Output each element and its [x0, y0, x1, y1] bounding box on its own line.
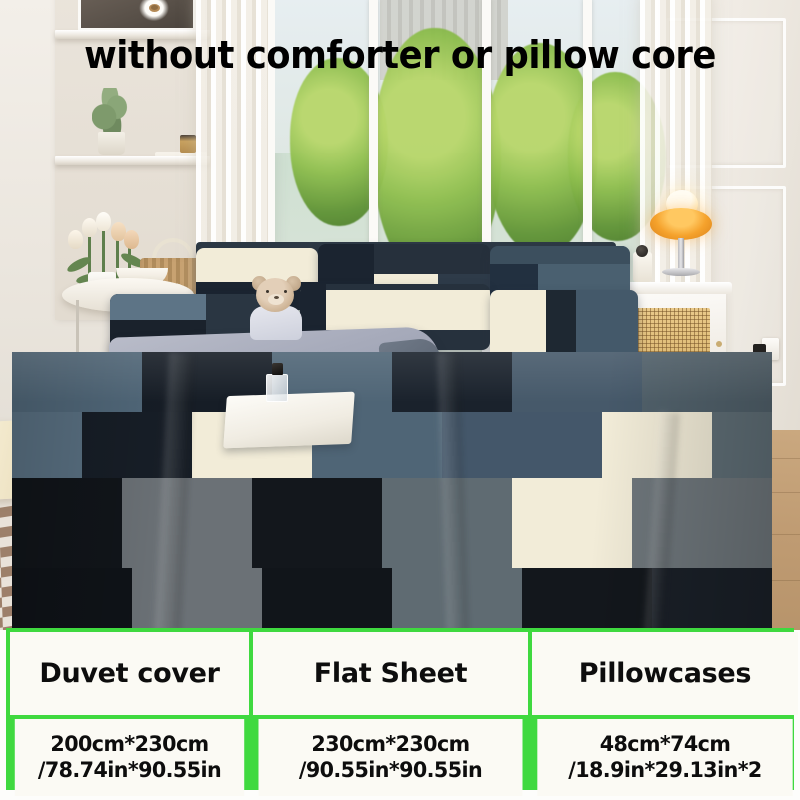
tulip-bloom [96, 212, 111, 231]
duvet-block [392, 352, 512, 412]
duvet-block [512, 478, 632, 568]
perfume-bottle [266, 374, 288, 402]
duvet-block [262, 568, 392, 630]
white-serving-tray [223, 392, 355, 449]
plaid-duvet-cover [12, 352, 772, 630]
spec-header-label: Flat Sheet [314, 658, 467, 689]
spec-value-flat-sheet: 230cm*230cm /90.55in*90.55in [259, 719, 523, 796]
duvet-block [12, 568, 132, 630]
page-title: without comforter or pillow core [28, 36, 772, 74]
teddy-bear-nose [274, 296, 279, 299]
perfume-bottle-cap [272, 363, 283, 375]
duvet-block [512, 352, 642, 412]
spec-size-cm: 48cm*74cm [568, 732, 761, 757]
pillow-front-right [490, 290, 638, 360]
spec-size-cm: 230cm*230cm [299, 732, 482, 757]
duvet-block [12, 478, 122, 568]
spec-size-in: /18.9in*29.13in*2 [568, 758, 761, 783]
bed [0, 232, 800, 630]
spec-header-label: Duvet cover [39, 658, 219, 689]
potted-plant-leaves [92, 88, 132, 136]
duvet-block [442, 412, 602, 478]
duvet-block [632, 478, 772, 568]
wall-art-frame [78, 0, 196, 31]
teddy-bear-eye [266, 290, 269, 293]
teddy-bear-eye [284, 290, 287, 293]
duvet-block [652, 568, 772, 630]
shelf-middle [55, 156, 210, 165]
candle-jar [180, 135, 196, 153]
duvet-block [122, 478, 252, 568]
spec-value-duvet-cover: 200cm*230cm /78.74in*90.55in [15, 719, 244, 796]
duvet-block [132, 568, 262, 630]
duvet-block [712, 412, 772, 478]
spec-value-pillowcases: 48cm*74cm /18.9in*29.13in*2 [537, 719, 792, 796]
duvet-block [642, 352, 772, 412]
spec-size-in: /78.74in*90.55in [38, 758, 221, 783]
duvet-block [12, 412, 82, 478]
product-image: without comforter or pillow core Duvet c… [0, 0, 800, 800]
spec-size-cm: 200cm*230cm [38, 732, 221, 757]
plant-pot [98, 132, 125, 155]
duvet-block [522, 568, 652, 630]
spec-size-in: /90.55in*90.55in [299, 758, 482, 783]
flower-artwork-icon [137, 0, 171, 23]
duvet-block [392, 568, 522, 630]
spec-header-duvet-cover: Duvet cover [10, 632, 249, 715]
duvet-block [82, 412, 192, 478]
duvet-block [252, 478, 382, 568]
duvet-block [12, 352, 142, 412]
spec-header-label: Pillowcases [579, 658, 751, 689]
duvet-block [382, 478, 512, 568]
duvet-block [602, 412, 712, 478]
size-spec-table: Duvet cover Flat Sheet Pillowcases 200cm… [6, 628, 794, 790]
spec-header-pillowcases: Pillowcases [532, 632, 798, 715]
spec-header-flat-sheet: Flat Sheet [253, 632, 528, 715]
bedroom-photo [0, 0, 800, 630]
